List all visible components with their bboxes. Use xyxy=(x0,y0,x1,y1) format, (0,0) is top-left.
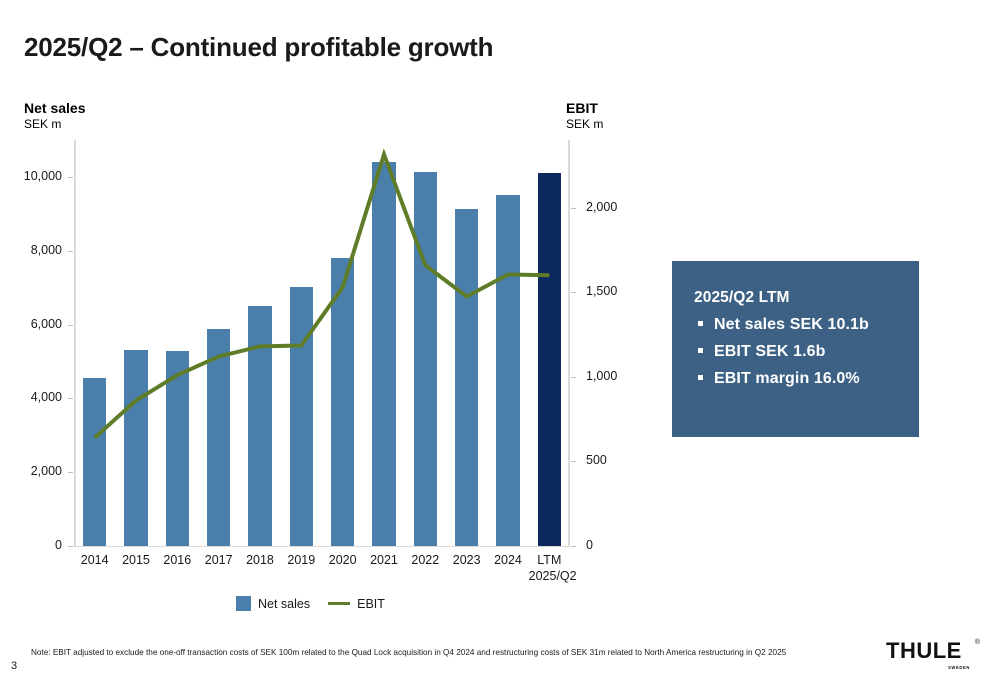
category-label-LTM-2025-Q2: LTM 2025/Q2 xyxy=(529,552,570,585)
left-tick-label: 6,000 xyxy=(31,317,62,331)
left-tick-label: 8,000 xyxy=(31,243,62,257)
right-tick-label: 1,500 xyxy=(586,284,617,298)
bullet-square-icon xyxy=(698,321,703,326)
right-tick-label: 2,000 xyxy=(586,200,617,214)
category-label-2018: 2018 xyxy=(239,552,280,568)
callout-bullet-1: Net sales SEK 10.1b xyxy=(694,316,919,334)
right-tick xyxy=(571,546,576,547)
ebit-line-path xyxy=(95,154,550,437)
left-tick xyxy=(68,251,73,252)
right-tick xyxy=(571,208,576,209)
callout-title: 2025/Q2 LTM xyxy=(694,289,919,307)
right-tick xyxy=(571,292,576,293)
callout-bullet-text: Net sales SEK 10.1b xyxy=(714,316,869,334)
bullet-square-icon xyxy=(698,348,703,353)
left-tick xyxy=(68,398,73,399)
left-tick-label: 2,000 xyxy=(31,464,62,478)
left-tick-label: 0 xyxy=(55,538,62,552)
legend-line-swatch xyxy=(328,602,350,606)
right-tick xyxy=(571,377,576,378)
right-tick-label: 1,000 xyxy=(586,369,617,383)
category-label-2017: 2017 xyxy=(198,552,239,568)
category-label-2015: 2015 xyxy=(115,552,156,568)
legend-item-net-sales: Net sales xyxy=(236,596,310,611)
legend-item-ebit: EBIT xyxy=(328,597,385,611)
category-label-2023: 2023 xyxy=(446,552,487,568)
callout-bullet-text: EBIT SEK 1.6b xyxy=(714,343,826,361)
page-number: 3 xyxy=(11,660,17,672)
left-tick-label: 4,000 xyxy=(31,390,62,404)
left-tick-label: 10,000 xyxy=(24,169,62,183)
logo-subtext: SWEDEN xyxy=(948,665,970,670)
registered-trademark-icon: ® xyxy=(975,639,980,646)
category-label-2021: 2021 xyxy=(363,552,404,568)
right-tick-label: 0 xyxy=(586,538,593,552)
footnote-text: Note: EBIT adjusted to exclude the one-o… xyxy=(31,648,831,659)
category-label-2020: 2020 xyxy=(322,552,363,568)
summary-callout-box: 2025/Q2 LTM Net sales SEK 10.1bEBIT SEK … xyxy=(672,261,919,437)
category-label-2019: 2019 xyxy=(281,552,322,568)
right-tick-label: 500 xyxy=(586,453,607,467)
legend-label-ebit: EBIT xyxy=(357,597,385,611)
category-label-2022: 2022 xyxy=(405,552,446,568)
category-label-2014: 2014 xyxy=(74,552,115,568)
plot-area: 02,0004,0006,0008,00010,000 05001,0001,5… xyxy=(74,140,570,546)
logo-wordmark: THULE xyxy=(886,640,978,662)
left-tick xyxy=(68,325,73,326)
left-tick xyxy=(68,177,73,178)
callout-bullet-2: EBIT SEK 1.6b xyxy=(694,343,919,361)
bullet-square-icon xyxy=(698,375,703,380)
thule-logo: THULE SWEDEN ® xyxy=(886,640,978,670)
callout-bullet-list: Net sales SEK 10.1bEBIT SEK 1.6bEBIT mar… xyxy=(694,316,919,388)
legend-label-net-sales: Net sales xyxy=(258,597,310,611)
left-tick xyxy=(68,472,73,473)
category-label-2024: 2024 xyxy=(487,552,528,568)
left-tick xyxy=(68,546,73,547)
callout-bullet-3: EBIT margin 16.0% xyxy=(694,370,919,388)
category-axis-labels: 2014201520162017201820192020202120222023… xyxy=(74,552,570,598)
chart-legend: Net sales EBIT xyxy=(236,596,385,611)
baseline xyxy=(74,546,570,547)
ebit-line-series xyxy=(74,140,570,546)
right-tick xyxy=(571,461,576,462)
category-label-2016: 2016 xyxy=(157,552,198,568)
callout-bullet-text: EBIT margin 16.0% xyxy=(714,370,860,388)
legend-bar-swatch xyxy=(236,596,251,611)
combo-chart: 02,0004,0006,0008,00010,000 05001,0001,5… xyxy=(0,0,620,600)
